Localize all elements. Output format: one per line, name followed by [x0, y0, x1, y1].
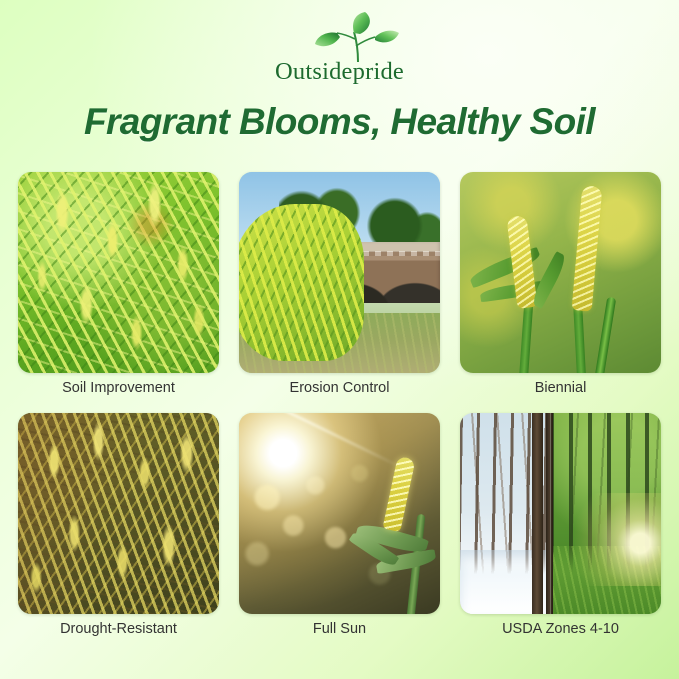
feature-image-biennial [460, 172, 661, 373]
feature-image-full-sun [239, 413, 440, 614]
leaf-sprout-icon [255, 12, 425, 64]
feature-label-full-sun: Full Sun [239, 614, 440, 644]
feature-label-erosion-control: Erosion Control [239, 373, 440, 403]
brand-logo: Outsidepride [0, 12, 679, 94]
feature-grid: Soil Improvement Erosion Control [18, 172, 661, 644]
feature-label-biennial: Biennial [460, 373, 661, 403]
feature-label-usda-zones: USDA Zones 4-10 [460, 614, 661, 644]
feature-item-usda-zones: USDA Zones 4-10 [460, 413, 661, 644]
feature-item-soil-improvement: Soil Improvement [18, 172, 219, 403]
feature-image-usda-zones [460, 413, 661, 614]
feature-item-drought-resistant: Drought-Resistant [18, 413, 219, 644]
feature-label-drought-resistant: Drought-Resistant [18, 614, 219, 644]
feature-image-soil-improvement [18, 172, 219, 373]
feature-image-erosion-control [239, 172, 440, 373]
feature-image-drought-resistant [18, 413, 219, 614]
feature-item-erosion-control: Erosion Control [239, 172, 440, 403]
feature-label-soil-improvement: Soil Improvement [18, 373, 219, 403]
feature-item-biennial: Biennial [460, 172, 661, 403]
feature-item-full-sun: Full Sun [239, 413, 440, 644]
product-feature-infographic: Outsidepride Fragrant Blooms, Healthy So… [0, 0, 679, 679]
page-title: Fragrant Blooms, Healthy Soil [0, 102, 679, 143]
